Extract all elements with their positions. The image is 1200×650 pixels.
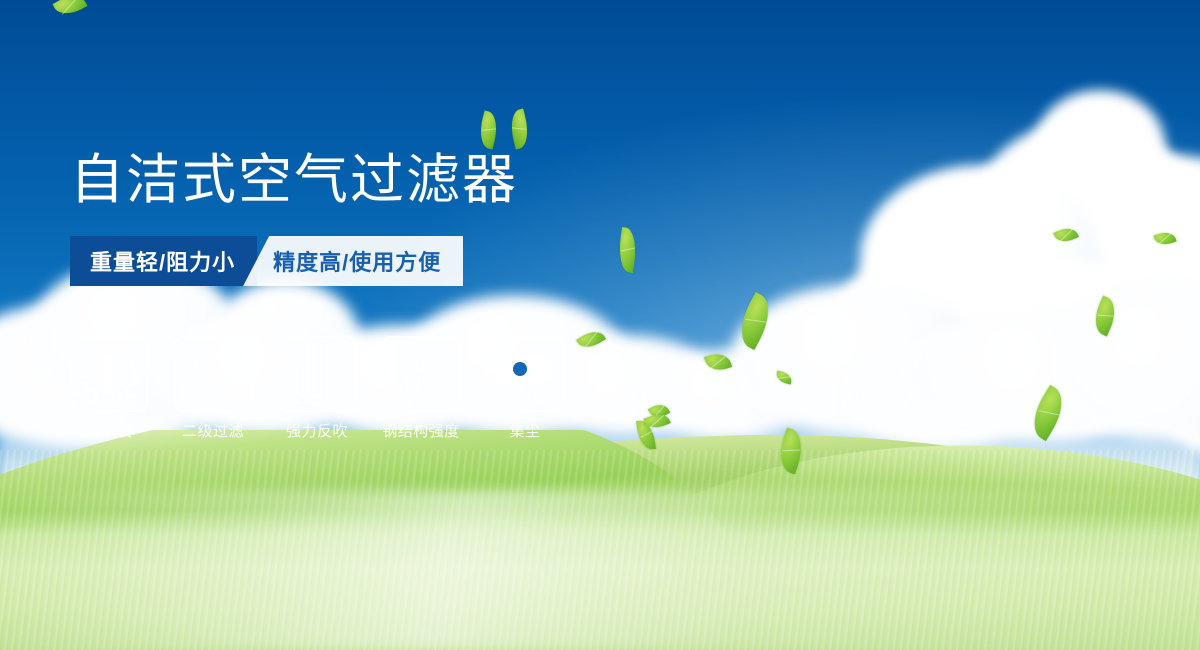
product-hero-banner: 自洁式空气过滤器 重量轻/阻力小 精度高/使用方便: [0, 0, 1200, 650]
meadow-light-sweep: [0, 490, 1200, 650]
feature-icon-box: Air: [486, 336, 564, 412]
page-title: 自洁式空气过滤器: [70, 146, 518, 214]
feature-item-two-stage-filter[interactable]: 0.6～0.8 MPA 二级过滤: [174, 336, 252, 441]
feature-label: 二级过滤: [182, 420, 244, 441]
feature-icon-box: NO OFF: [70, 336, 148, 412]
subtitle-left-tag: 重量轻/阻力小: [70, 236, 257, 286]
steel-plate-text: 钢板: [404, 374, 439, 395]
feature-item-strong-blowback[interactable]: 强力反吹: [278, 336, 356, 441]
steel-thickness-text: 3～8MM: [388, 353, 455, 374]
gauge-label-off: OFF: [125, 394, 139, 400]
gauge-label-no: NO: [79, 369, 89, 375]
feature-label: 控制仪: [86, 420, 133, 441]
gauge-icon: NO OFF: [79, 345, 139, 403]
pressure-unit-text: MPA: [194, 374, 231, 395]
gauge-needle: [104, 353, 114, 395]
feature-icon-box: 0.6～0.8 MPA: [174, 336, 252, 412]
subtitle-right-tag: 精度高/使用方便: [243, 236, 463, 286]
feature-icon-box: [278, 336, 356, 412]
grass-field: [0, 430, 1200, 650]
feature-label: 钢结构强度: [382, 420, 460, 441]
filter-stack-icon: [294, 345, 340, 403]
feature-item-dust-collection[interactable]: Air 集尘: [486, 336, 564, 441]
subtitle-bar: 重量轻/阻力小 精度高/使用方便: [70, 236, 463, 286]
feature-label: 集尘: [509, 420, 540, 441]
feature-item-controller[interactable]: NO OFF 控制仪: [70, 336, 148, 441]
pressure-range-text: 0.6～0.8: [179, 353, 247, 374]
cloud-air-icon: [496, 344, 554, 394]
feature-item-steel-strength[interactable]: 3～8MM 钢板 钢结构强度: [382, 336, 460, 441]
feature-list: NO OFF 控制仪 0.6～0.8 MPA 二级过滤: [70, 336, 564, 441]
feature-label: 强力反吹: [286, 420, 348, 441]
feature-icon-box: 3～8MM 钢板: [382, 336, 460, 412]
